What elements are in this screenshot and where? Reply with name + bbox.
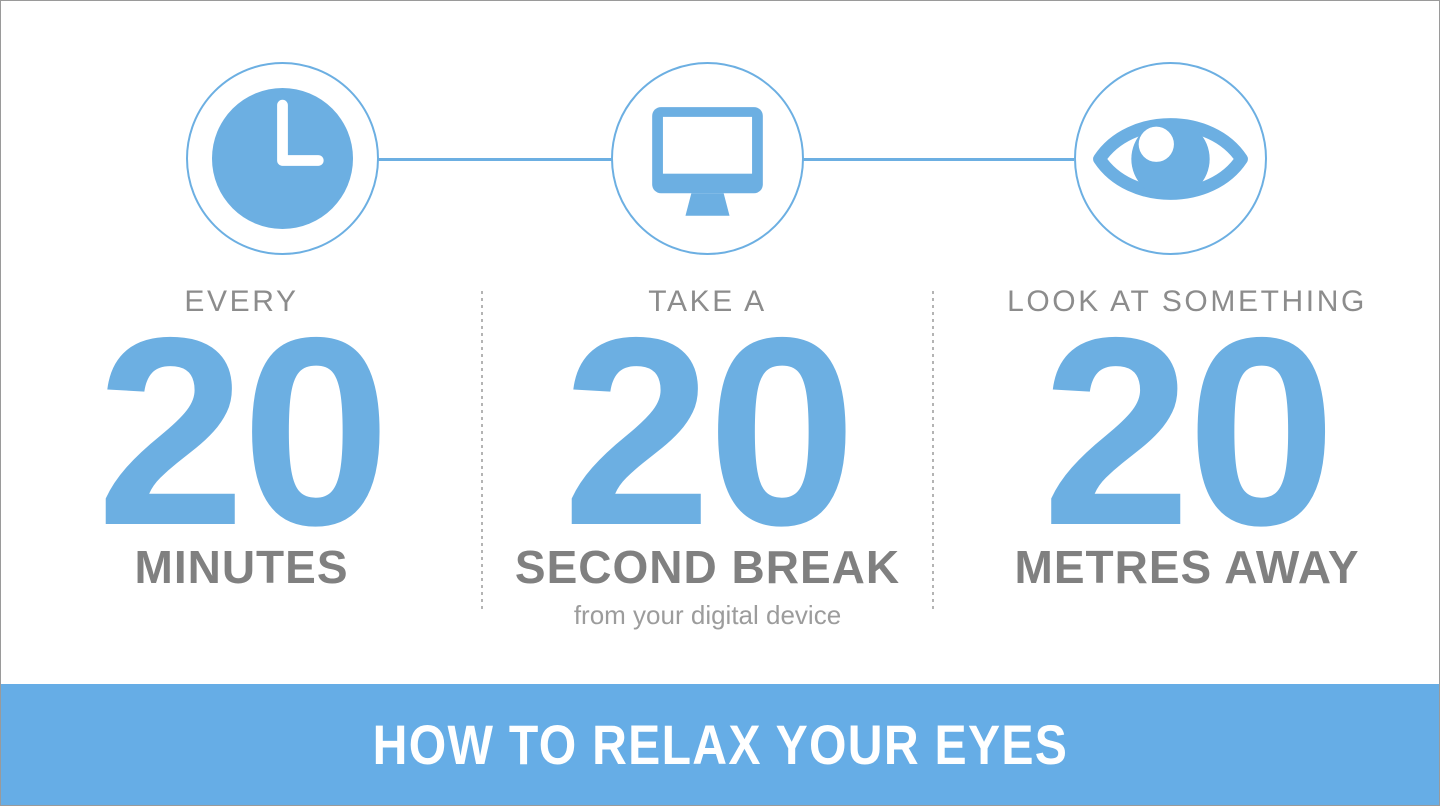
- infographic-poster: EVERY 20 MINUTES TAKE A 20 SECOND BREAK …: [0, 0, 1440, 806]
- step-card-3: LOOK AT SOMETHING 20 METRES AWAY: [933, 277, 1440, 677]
- step-1-unit: MINUTES: [1, 544, 482, 590]
- monitor-icon-circle: [611, 62, 804, 255]
- step-2-unit: SECOND BREAK: [482, 544, 933, 590]
- step-card-1: EVERY 20 MINUTES: [1, 277, 482, 677]
- icon-row: [1, 1, 1440, 277]
- clock-icon-circle: [186, 62, 379, 255]
- step-3-number: 20: [933, 327, 1440, 536]
- footer-banner: HOW TO RELAX YOUR EYES: [1, 684, 1439, 805]
- step-3-unit: METRES AWAY: [933, 544, 1440, 590]
- step-card-2: TAKE A 20 SECOND BREAK from your digital…: [482, 277, 933, 677]
- steps-row: EVERY 20 MINUTES TAKE A 20 SECOND BREAK …: [1, 277, 1440, 677]
- eye-icon: [1076, 64, 1265, 253]
- connector-line-right: [802, 158, 1074, 161]
- poster-title: HOW TO RELAX YOUR EYES: [372, 717, 1068, 773]
- step-1-number: 20: [1, 327, 482, 536]
- monitor-icon: [613, 64, 802, 253]
- clock-icon: [188, 64, 377, 253]
- eye-icon-circle: [1074, 62, 1267, 255]
- step-2-subnote: from your digital device: [482, 602, 933, 628]
- step-2-number: 20: [482, 327, 933, 536]
- connector-line-left: [378, 158, 620, 161]
